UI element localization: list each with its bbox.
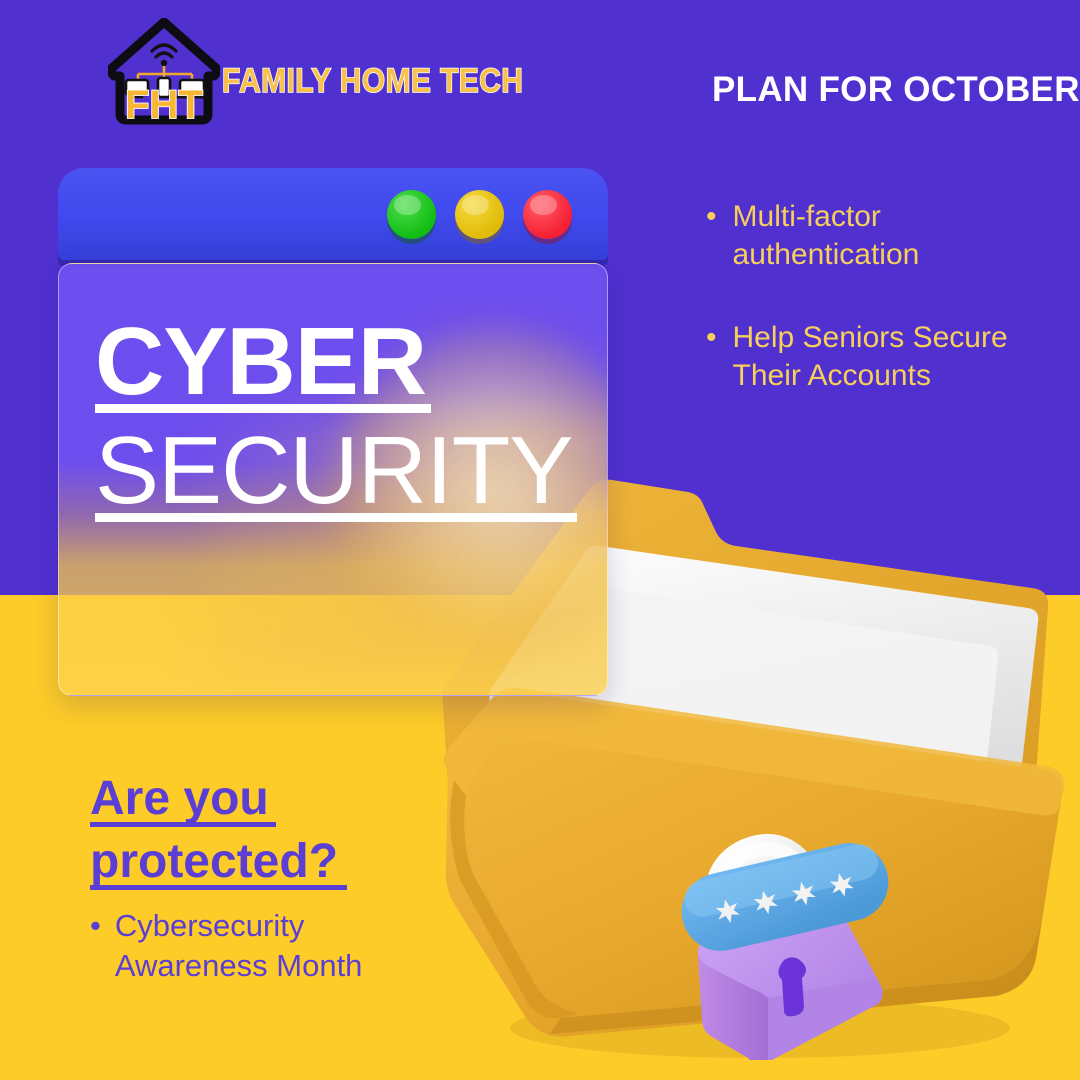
headline-line-2: SECURITY xyxy=(95,421,595,522)
bullet-icon: • xyxy=(706,198,717,274)
awareness-bullet-list: • Cybersecurity Awareness Month xyxy=(90,906,420,986)
plan-list-item: • Multi-factor authentication xyxy=(706,198,1036,274)
plan-list-item: • Help Seniors Secure Their Accounts xyxy=(706,319,1036,395)
question-line-2: protected? xyxy=(90,833,347,890)
maximize-dot-icon[interactable] xyxy=(387,190,436,239)
plan-list-item-label: Multi-factor authentication xyxy=(733,198,1036,274)
logo-wordmark: FAMILY HOME TECH xyxy=(222,62,523,101)
protected-question-block: Are you protected? xyxy=(90,770,510,896)
traffic-light-controls xyxy=(387,190,572,239)
browser-window-mockup: CYBER SECURITY xyxy=(58,168,608,696)
minimize-dot-icon[interactable] xyxy=(455,190,504,239)
headline-line-1: CYBER xyxy=(95,312,595,413)
headline-block: CYBER SECURITY xyxy=(95,312,595,530)
bullet-icon: • xyxy=(90,906,101,986)
headline-word-security: SECURITY xyxy=(95,421,595,521)
plan-heading: PLAN FOR OCTOBER xyxy=(712,70,1080,110)
house-wifi-devices-logo-icon: FHT xyxy=(108,18,220,126)
awareness-list-item: • Cybersecurity Awareness Month xyxy=(90,906,420,986)
question-line-1: Are you xyxy=(90,770,282,827)
plan-bullet-list: • Multi-factor authentication • Help Sen… xyxy=(706,198,1036,440)
plan-list-item-label: Help Seniors Secure Their Accounts xyxy=(733,319,1036,395)
window-body-glass-panel: CYBER SECURITY xyxy=(58,263,608,696)
headline-word-cyber: CYBER xyxy=(95,312,595,412)
question-text-2: protected? xyxy=(90,833,347,891)
window-titlebar xyxy=(58,168,608,260)
logo-monogram-text: FHT xyxy=(125,83,203,126)
close-dot-icon[interactable] xyxy=(523,190,572,239)
awareness-list-item-label: Cybersecurity Awareness Month xyxy=(115,906,420,986)
brand-logo[interactable]: FHT FAMILY HOME TECH xyxy=(108,18,564,126)
bullet-icon: • xyxy=(706,319,717,395)
question-text-1: Are you xyxy=(90,770,282,828)
